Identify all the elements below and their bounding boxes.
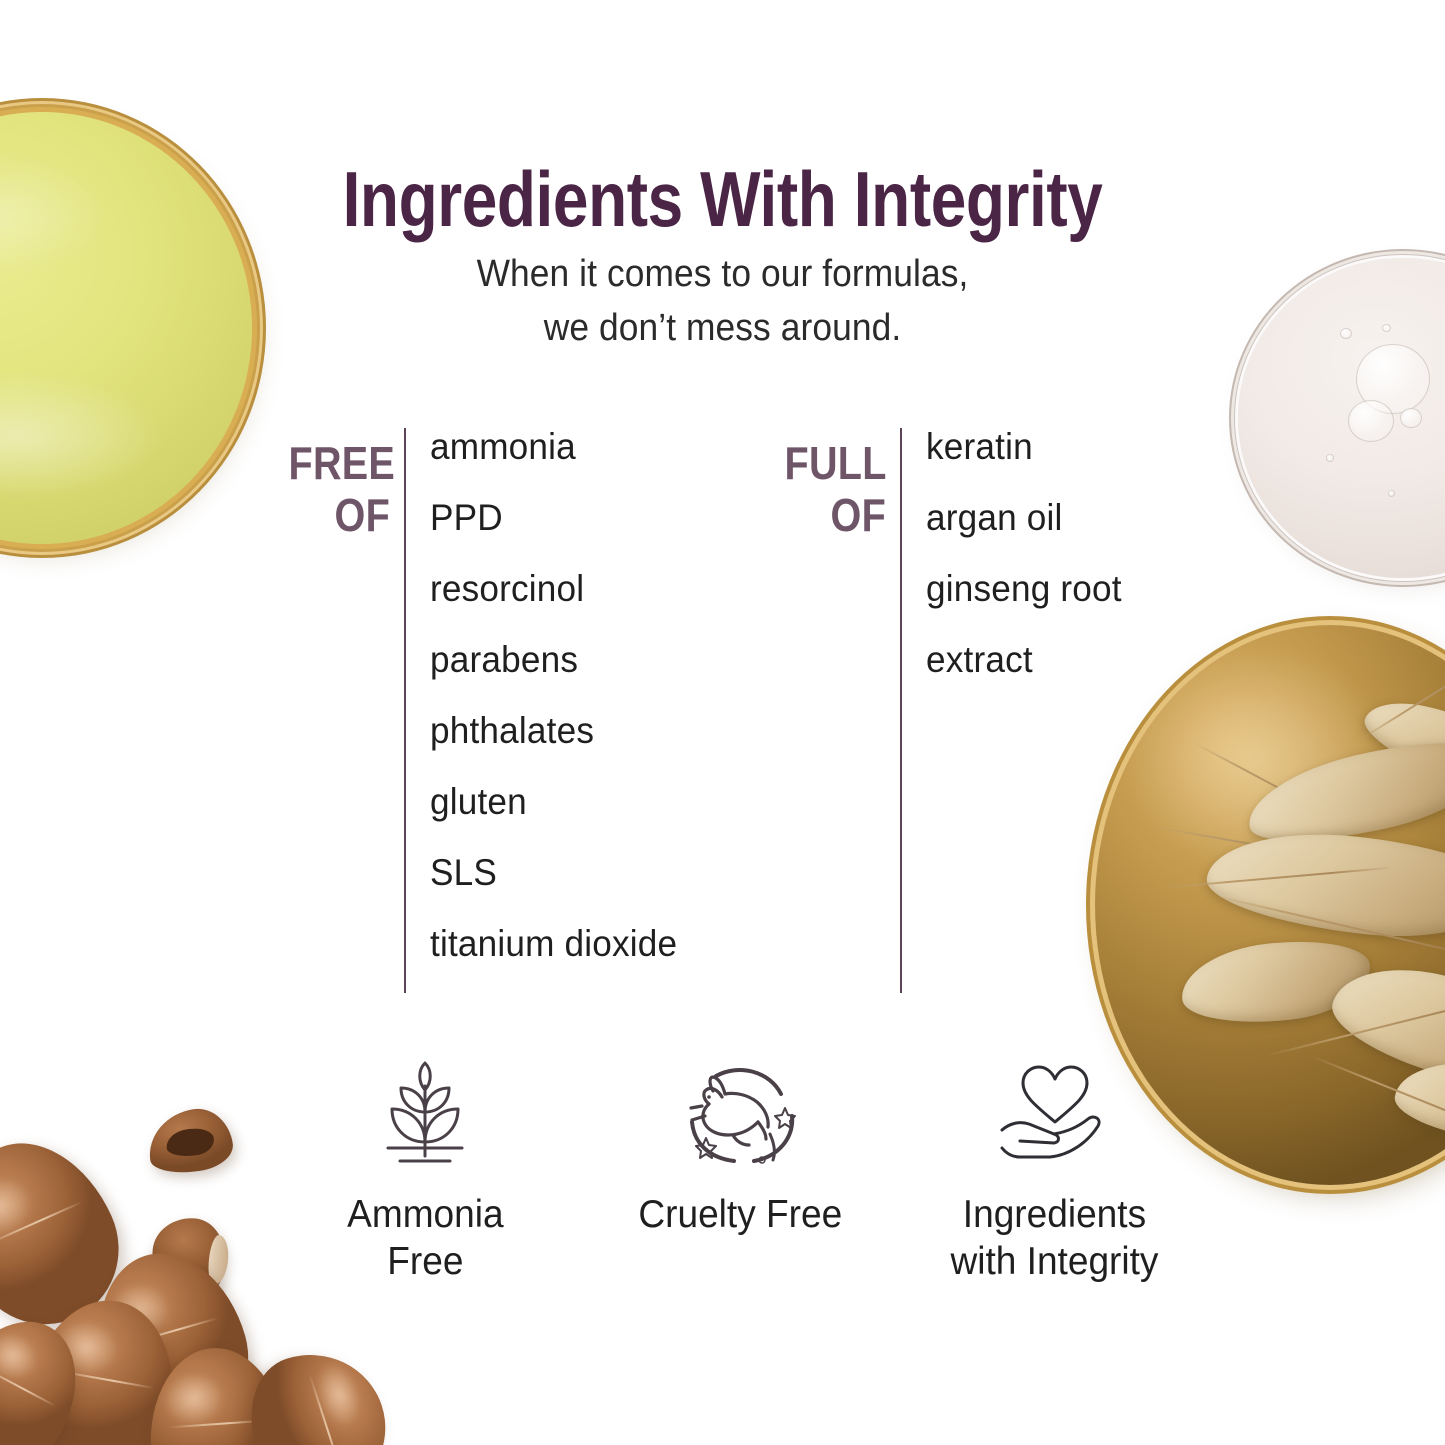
column-divider [900,428,902,993]
free-of-list: ammonia PPD resorcinol parabens phthalat… [430,428,690,996]
argan-nut [233,1335,404,1445]
list-item: ginseng root [926,570,1122,607]
list-item: extract [926,641,1122,678]
page-title: Ingredients With Integrity [130,160,1315,238]
hand-holding-heart-icon [990,1058,1120,1168]
ginseng-root [1391,1053,1445,1151]
leaping-bunny-icon [678,1058,802,1168]
ingredient-columns: FREE OF ammonia PPD resorcinol parabens … [0,428,1445,1008]
full-of-list: keratin argan oil ginseng root extract [926,428,1132,712]
full-of-column: FULL OF keratin argan oil ginseng root e… [768,428,1132,993]
free-of-label: FREE OF [289,428,390,541]
list-item: parabens [430,641,677,678]
gel-bubble [1400,408,1422,428]
badge-ingredients-with-integrity: Ingredients with Integrity [897,1058,1212,1286]
infographic-page: Ingredients With Integrity When it comes… [0,0,1445,1445]
subheading-line-1: When it comes to our formulas, [51,248,1395,302]
list-item: argan oil [926,499,1122,536]
list-item: gluten [430,783,677,820]
argan-nut-seam [0,1201,81,1246]
list-item: ammonia [430,428,677,465]
full-of-label: FULL OF [785,428,886,541]
badge-label: Cruelty Free [638,1192,842,1239]
list-item: phthalates [430,712,677,749]
argan-nut-seam [0,1365,55,1406]
badge-label: Ammonia Free [347,1192,503,1286]
free-of-column: FREE OF ammonia PPD resorcinol parabens … [272,428,690,996]
list-item: resorcinol [430,570,677,607]
badge-label: Ingredients with Integrity [951,1192,1159,1286]
list-item: keratin [926,428,1122,465]
subheading: When it comes to our formulas, we don’t … [0,248,1445,356]
subheading-line-2: we don’t mess around. [51,302,1395,356]
badge-cruelty-free: Cruelty Free [583,1058,898,1286]
list-item: PPD [430,499,677,536]
list-item: SLS [430,854,677,891]
column-divider [404,428,406,993]
trust-badges: Ammonia Free [268,1058,1212,1286]
argan-nut-seam [309,1374,343,1445]
badge-ammonia-free: Ammonia Free [268,1058,583,1286]
plant-sprout-icon [366,1058,484,1168]
argan-shell-fragment [144,1104,236,1177]
list-item: titanium dioxide [430,925,677,962]
